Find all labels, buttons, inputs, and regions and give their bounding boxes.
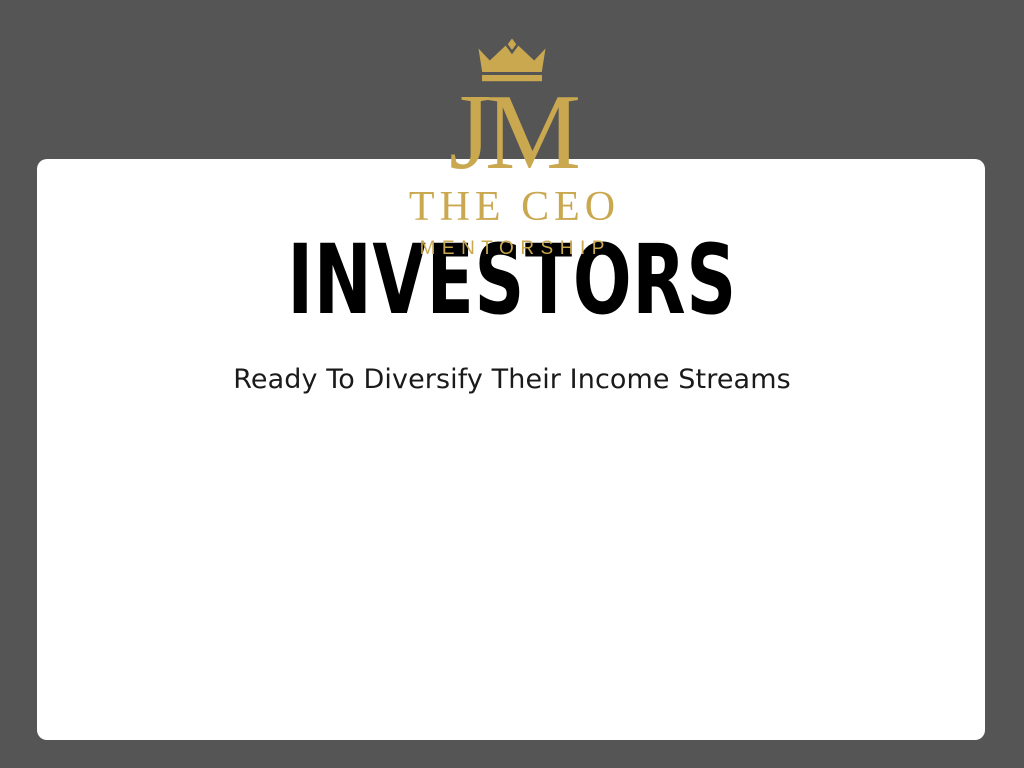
page-title: INVESTORS: [287, 232, 736, 328]
crown-icon: [475, 38, 549, 86]
card-body: INVESTORS Ready To Diversify Their Incom…: [0, 232, 1024, 396]
slide-canvas: JM THE CEO MENTORSHIP INVESTORS Ready To…: [0, 0, 1024, 768]
page-subtitle: Ready To Diversify Their Income Streams: [233, 364, 791, 396]
